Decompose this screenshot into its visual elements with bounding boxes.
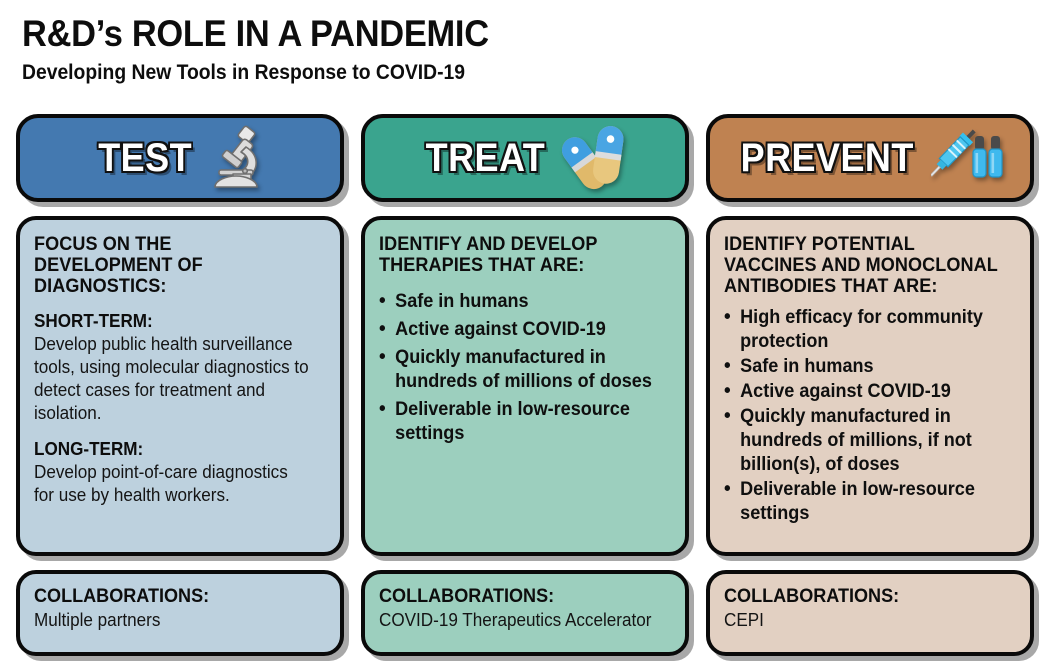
body-card-prevent: IDENTIFY POTENTIAL VACCINES AND MONOCLON…: [706, 216, 1034, 556]
columns-container: TEST: [16, 114, 1035, 656]
infographic-root: R&D’s ROLE IN A PANDEMIC Developing New …: [0, 0, 1051, 666]
microscope-icon: [205, 125, 267, 191]
list-item: Deliverable in low-resource settings: [379, 398, 656, 446]
body-card-test: FOCUS ON THE DEVELOPMENT OF DIAGNOSTICS:…: [16, 216, 344, 556]
list-item: Safe in humans: [379, 290, 656, 314]
subheading-short-term: SHORT-TERM:: [34, 311, 311, 332]
page-title: R&D’s ROLE IN A PANDEMIC: [22, 14, 859, 54]
list-item: Safe in humans: [724, 355, 1001, 379]
list-item: High efficacy for community protection: [724, 306, 1001, 354]
column-prevent: PREVENT: [706, 114, 1034, 656]
collaborations-text-prevent: CEPI: [724, 609, 1001, 632]
list-item: Deliverable in low-resource settings: [724, 478, 1001, 526]
body-card-treat: IDENTIFY AND DEVELOP THERAPIES THAT ARE:…: [361, 216, 689, 556]
bullet-list-prevent: High efficacy for community protection S…: [724, 306, 1016, 526]
header-label-test: TEST: [98, 138, 192, 178]
collaborations-card-prevent: COLLABORATIONS: CEPI: [706, 570, 1034, 656]
collaborations-title-treat: COLLABORATIONS:: [379, 586, 656, 608]
title-block: R&D’s ROLE IN A PANDEMIC Developing New …: [22, 14, 922, 86]
paragraph-short-term: Develop public health surveillance tools…: [34, 333, 311, 425]
page-subtitle: Developing New Tools in Response to COVI…: [22, 60, 850, 86]
header-card-test: TEST: [16, 114, 344, 202]
header-card-prevent: PREVENT: [706, 114, 1034, 202]
collaborations-text-treat: COVID-19 Therapeutics Accelerator: [379, 609, 656, 632]
header-label-treat: TREAT: [425, 138, 545, 178]
collaborations-card-test: COLLABORATIONS: Multiple partners: [16, 570, 344, 656]
collaborations-text-test: Multiple partners: [34, 609, 311, 632]
column-test: TEST: [16, 114, 344, 656]
header-card-treat: TREAT: [361, 114, 689, 202]
panel-heading-test: FOCUS ON THE DEVELOPMENT OF DIAGNOSTICS:: [34, 234, 311, 297]
collaborations-card-treat: COLLABORATIONS: COVID-19 Therapeutics Ac…: [361, 570, 689, 656]
list-item: Quickly manufactured in hundreds of mill…: [724, 405, 1001, 477]
list-item: Quickly manufactured in hundreds of mill…: [379, 346, 656, 394]
collaborations-title-test: COLLABORATIONS:: [34, 586, 311, 608]
column-treat: TREAT: [361, 114, 689, 656]
paragraph-long-term: Develop point-of-care diagnostics for us…: [34, 461, 311, 507]
collaborations-title-prevent: COLLABORATIONS:: [724, 586, 1001, 608]
panel-heading-treat: IDENTIFY AND DEVELOP THERAPIES THAT ARE:: [379, 234, 656, 276]
header-label-prevent: PREVENT: [740, 138, 913, 178]
pills-capsules-icon: [559, 123, 631, 193]
list-item: Active against COVID-19: [379, 318, 656, 342]
panel-heading-prevent: IDENTIFY POTENTIAL VACCINES AND MONOCLON…: [724, 234, 1001, 297]
list-item: Active against COVID-19: [724, 380, 1001, 404]
syringe-vials-icon: [931, 124, 1009, 192]
subheading-long-term: LONG-TERM:: [34, 439, 311, 460]
bullet-list-treat: Safe in humans Active against COVID-19 Q…: [379, 290, 671, 446]
